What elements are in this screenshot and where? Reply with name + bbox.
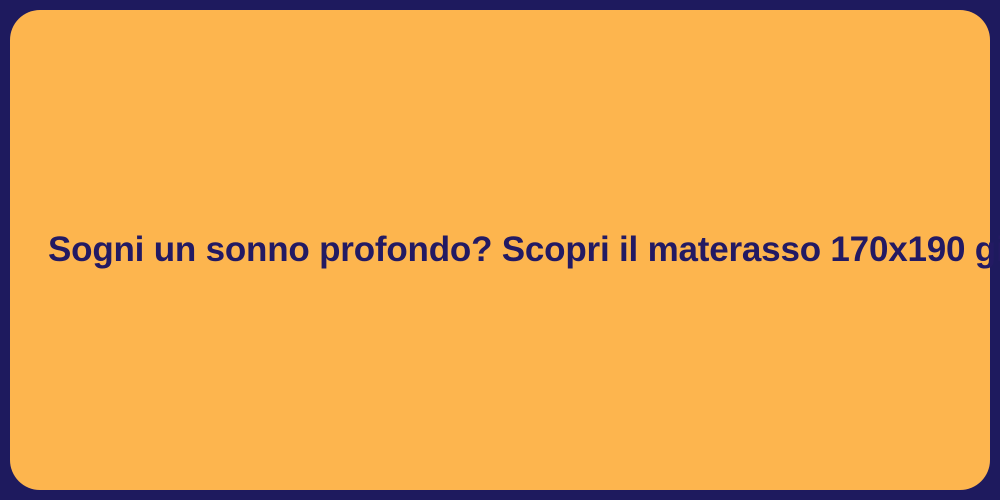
banner-frame: Sogni un sonno profondo? Scopri il mater… [0,0,1000,500]
banner-headline: Sogni un sonno profondo? Scopri il mater… [40,228,960,272]
banner-panel: Sogni un sonno profondo? Scopri il mater… [10,10,990,490]
